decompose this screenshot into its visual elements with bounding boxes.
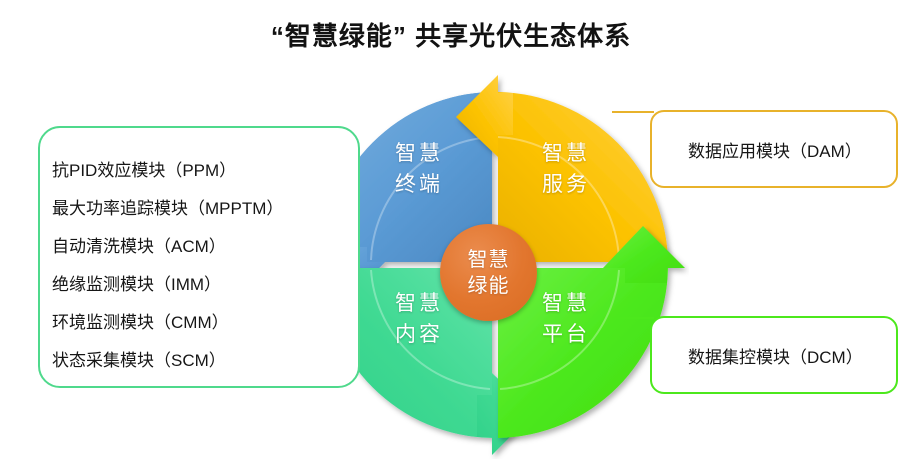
list-item: 环境监测模块（CMM） (52, 304, 352, 342)
list-item: 状态采集模块（SCM） (52, 342, 352, 380)
right-panel-dam-label: 数据应用模块（DAM） (652, 137, 862, 162)
list-item: 最大功率追踪模块（MPPTM） (52, 190, 352, 228)
hub-line1: 智慧 (468, 247, 510, 273)
list-item: 绝缘监测模块（IMM） (52, 266, 352, 304)
connector-line-dcm (612, 317, 654, 319)
list-item: 抗PID效应模块（PPM） (52, 152, 352, 190)
page-title: “智慧绿能” 共享光伏生态体系 (0, 16, 902, 53)
left-module-list: 抗PID效应模块（PPM） 最大功率追踪模块（MPPTM） 自动清洗模块（ACM… (52, 152, 352, 380)
center-hub[interactable]: 智慧 绿能 (440, 224, 537, 321)
connector-line-dam (612, 111, 654, 113)
right-panel-dcm: 数据集控模块（DCM） (650, 316, 898, 394)
list-item: 自动清洗模块（ACM） (52, 228, 352, 266)
right-panel-dam: 数据应用模块（DAM） (650, 110, 898, 188)
hub-line2: 绿能 (468, 273, 510, 299)
right-panel-dcm-label: 数据集控模块（DCM） (652, 343, 863, 368)
